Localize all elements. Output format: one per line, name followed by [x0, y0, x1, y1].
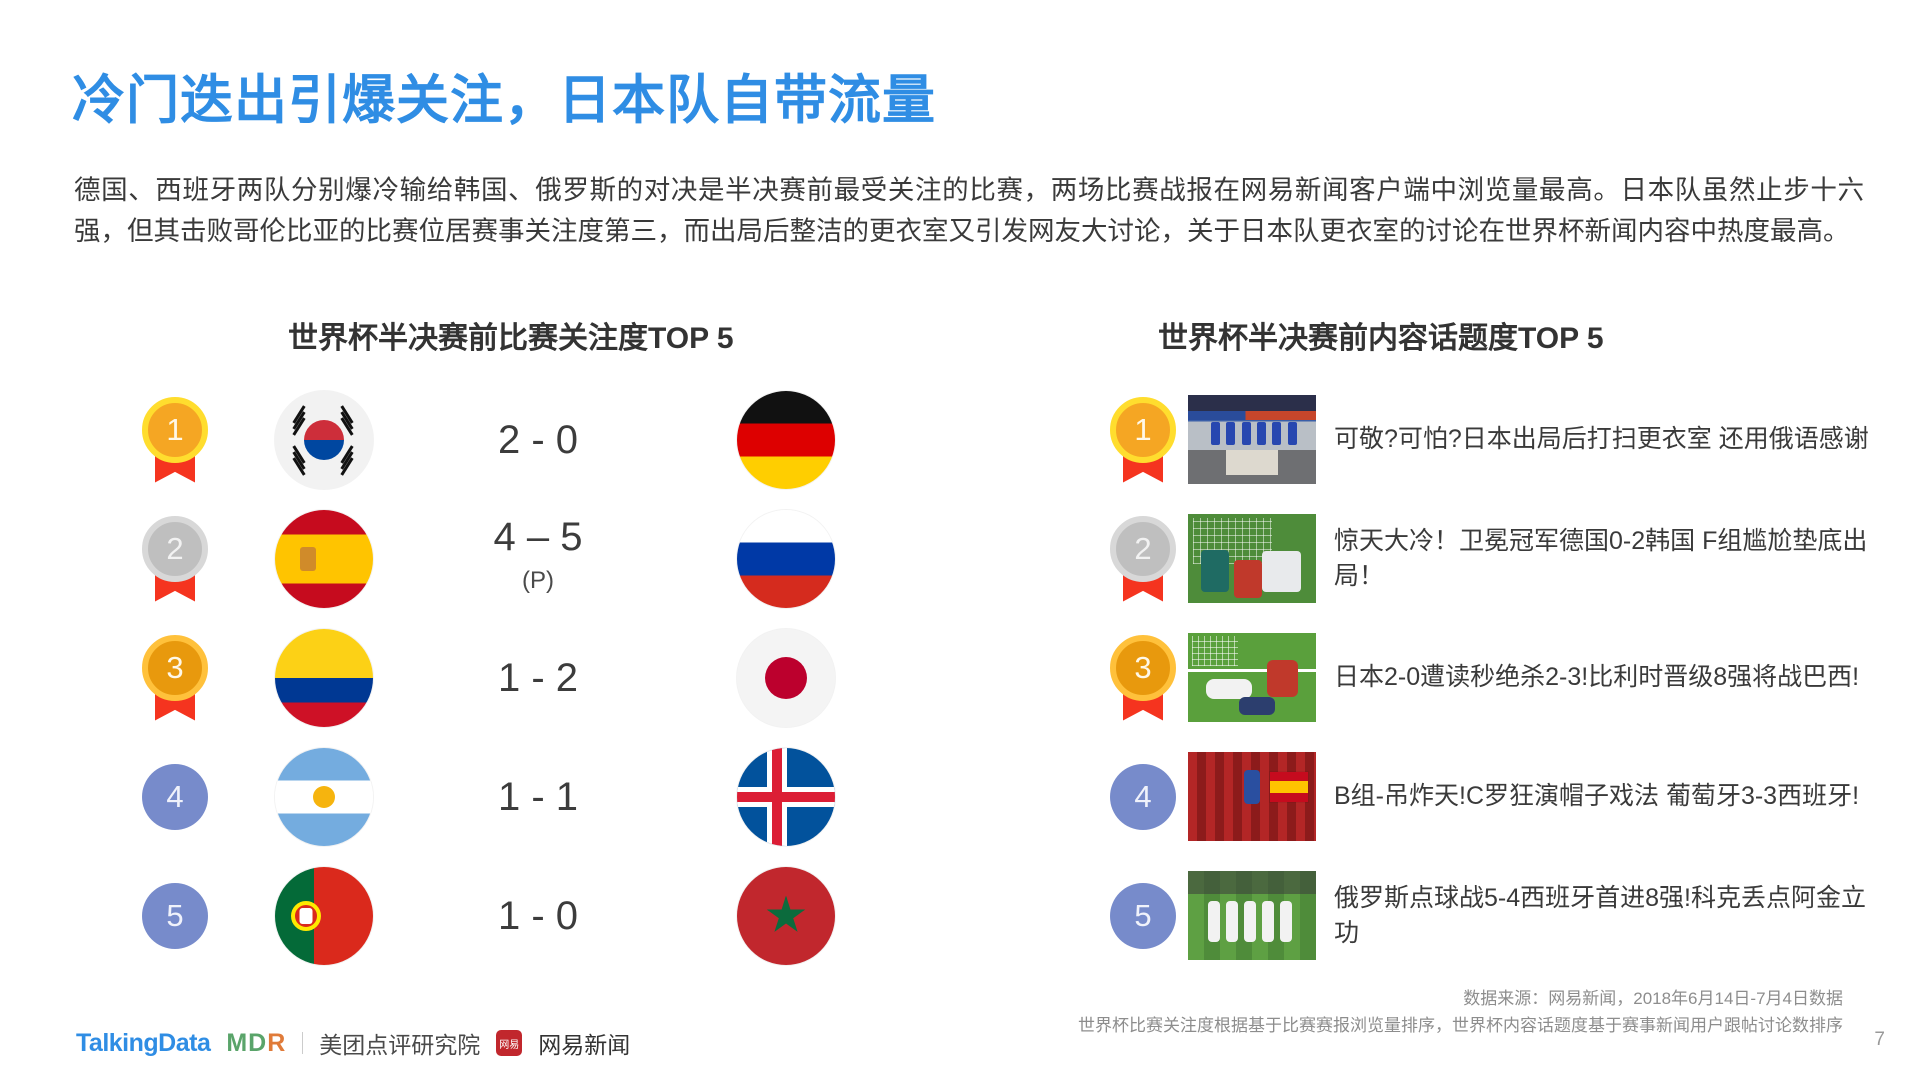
flag-portugal-icon — [275, 867, 373, 965]
news-row: 1 可敬?可怕?日本出局后打扫更衣室 还用俄语感谢 — [1098, 380, 1888, 499]
rank-number: 3 — [1110, 635, 1176, 701]
medal-badge-bronze: 3 — [142, 635, 208, 721]
match-row: 3 1 - 2 — [120, 618, 880, 737]
rank-cell: 4 — [120, 764, 230, 830]
rank-number: 3 — [142, 635, 208, 701]
score-cell: 1 - 0 — [418, 893, 692, 939]
mdr-logo: MDR — [226, 1029, 286, 1058]
argentina-sun — [313, 786, 335, 808]
score-value: 1 - 0 — [498, 894, 578, 938]
medal-badge-silver: 2 — [1110, 516, 1176, 602]
goalmouth-photo[interactable] — [1188, 514, 1316, 603]
source-line-1: 数据来源：网易新闻，2018年6月14日-7月4日数据 — [1078, 985, 1843, 1012]
right-panel-heading: 世界杯半决赛前内容话题度TOP 5 — [1158, 313, 1604, 357]
source-note: 数据来源：网易新闻，2018年6月14日-7月4日数据 世界杯比赛关注度根据基于… — [1078, 985, 1843, 1039]
score-cell: 1 - 1 — [418, 774, 692, 820]
rank-cell: 3 — [120, 635, 230, 721]
score-cell: 1 - 2 — [418, 655, 692, 701]
flag-iceland-icon — [737, 748, 835, 846]
match-row: 5 1 - 0 — [120, 856, 880, 975]
logo-divider — [302, 1032, 303, 1054]
meituan-research-logo: 美团点评研究院 — [319, 1026, 480, 1060]
news-row: 4 B组-吊炸天!C罗狂演帽子戏法 葡萄牙3-3西班牙! — [1098, 737, 1888, 856]
away-team-cell — [692, 391, 880, 489]
rank-cell: 2 — [120, 516, 230, 602]
portugal-arms — [291, 901, 321, 931]
rank-cell: 5 — [1098, 883, 1188, 949]
mdr-logo-r: R — [267, 1029, 286, 1057]
rank-number: 2 — [1110, 516, 1176, 582]
rank-number: 4 — [1134, 779, 1151, 815]
rank-cell: 1 — [1098, 397, 1188, 483]
away-team-cell — [692, 748, 880, 846]
home-team-cell — [230, 510, 418, 608]
rank-number: 1 — [1110, 397, 1176, 463]
rank-cell: 2 — [1098, 516, 1188, 602]
page-number: 7 — [1874, 1029, 1885, 1051]
intro-paragraph: 德国、西班牙两队分别爆冷输给韩国、俄罗斯的对决是半决赛前最受关注的比赛，两场比赛… — [74, 170, 1864, 252]
penalty-celebration-photo[interactable] — [1188, 871, 1316, 960]
rank-cell: 1 — [120, 397, 230, 483]
japan-sun-disc — [765, 657, 807, 699]
flag-morocco-icon — [737, 867, 835, 965]
rank-circle-5: 5 — [142, 883, 208, 949]
flag-colombia-icon — [275, 629, 373, 727]
rank-number: 5 — [166, 898, 183, 934]
home-team-cell — [230, 748, 418, 846]
flag-south-korea-icon — [275, 391, 373, 489]
news-headline[interactable]: 日本2-0遭读秒绝杀2-3!比利时晋级8强将战巴西! — [1334, 660, 1888, 695]
rank-circle-4: 4 — [1110, 764, 1176, 830]
rank-number: 1 — [142, 397, 208, 463]
score-value: 2 - 0 — [498, 418, 578, 462]
rank-cell: 3 — [1098, 635, 1188, 721]
flag-germany-icon — [737, 391, 835, 489]
news-row: 5 俄罗斯点球战5-4西班牙首进8强!科克丢点阿金立功 — [1098, 856, 1888, 975]
rank-circle-4: 4 — [142, 764, 208, 830]
rank-cell: 4 — [1098, 764, 1188, 830]
footer-logos: TalkingData MDR 美团点评研究院 网易 网易新闻 — [76, 1026, 630, 1060]
home-team-cell — [230, 867, 418, 965]
spain-fans-photo[interactable] — [1188, 752, 1316, 841]
flag-russia-icon — [737, 510, 835, 608]
flag-japan-icon — [737, 629, 835, 727]
away-team-cell — [692, 867, 880, 965]
medal-badge-silver: 2 — [142, 516, 208, 602]
score-value: 1 - 2 — [498, 656, 578, 700]
spain-crest — [300, 547, 316, 571]
talkingdata-logo: TalkingData — [76, 1029, 210, 1058]
news-headline[interactable]: 可敬?可怕?日本出局后打扫更衣室 还用俄语感谢 — [1334, 422, 1888, 457]
score-value: 4 – 5 — [494, 515, 583, 559]
page-title: 冷门迭出引爆关注，日本队自带流量 — [72, 58, 936, 134]
locker-room-photo[interactable] — [1188, 395, 1316, 484]
score-cell: 2 - 0 — [418, 417, 692, 463]
news-row: 3 日本2-0遭读秒绝杀2-3!比利时晋级8强将战巴西! — [1098, 618, 1888, 737]
flag-argentina-icon — [275, 748, 373, 846]
medal-badge-bronze: 3 — [1110, 635, 1176, 721]
left-panel-heading: 世界杯半决赛前比赛关注度TOP 5 — [288, 313, 734, 357]
rank-number: 5 — [1134, 898, 1151, 934]
away-team-cell — [692, 629, 880, 727]
news-headline[interactable]: 惊天大冷！卫冕冠军德国0-2韩国 F组尴尬垫底出局！ — [1334, 524, 1888, 594]
home-team-cell — [230, 629, 418, 727]
score-value: 1 - 1 — [498, 775, 578, 819]
netease-mark-icon: 网易 — [496, 1030, 522, 1056]
taeguk-symbol — [304, 420, 344, 460]
match-row: 2 4 – 5 (P) — [120, 499, 880, 618]
flag-spain-icon — [275, 510, 373, 608]
news-headline[interactable]: 俄罗斯点球战5-4西班牙首进8强!科克丢点阿金立功 — [1334, 881, 1888, 951]
match-row: 1 — [120, 380, 880, 499]
news-ranking-list: 1 可敬?可怕?日本出局后打扫更衣室 还用俄语感谢 2 — [1098, 380, 1888, 975]
rank-number: 4 — [166, 779, 183, 815]
match-ranking-list: 1 — [120, 380, 880, 975]
rank-circle-5: 5 — [1110, 883, 1176, 949]
home-team-cell — [230, 391, 418, 489]
match-row: 4 1 - 1 — [120, 737, 880, 856]
rank-number: 2 — [142, 516, 208, 582]
news-row: 2 惊天大冷！卫冕冠军德国0-2韩国 F组尴尬垫底出局！ — [1098, 499, 1888, 618]
medal-badge-gold: 1 — [1110, 397, 1176, 483]
away-team-cell — [692, 510, 880, 608]
source-line-2: 世界杯比赛关注度根据基于比赛赛报浏览量排序，世界杯内容话题度基于赛事新闻用户跟帖… — [1078, 1012, 1843, 1039]
penalty-note: (P) — [418, 558, 658, 604]
netease-news-logo: 网易新闻 — [538, 1026, 630, 1060]
slide-root: 冷门迭出引爆关注，日本队自带流量 德国、西班牙两队分别爆冷输给韩国、俄罗斯的对决… — [0, 0, 1921, 1080]
rank-cell: 5 — [120, 883, 230, 949]
japan-belgium-photo[interactable] — [1188, 633, 1316, 722]
morocco-star — [766, 896, 806, 936]
news-headline[interactable]: B组-吊炸天!C罗狂演帽子戏法 葡萄牙3-3西班牙! — [1334, 779, 1888, 814]
medal-badge-gold: 1 — [142, 397, 208, 483]
score-cell: 4 – 5 (P) — [418, 514, 692, 604]
mdr-logo-m: MD — [226, 1029, 267, 1057]
